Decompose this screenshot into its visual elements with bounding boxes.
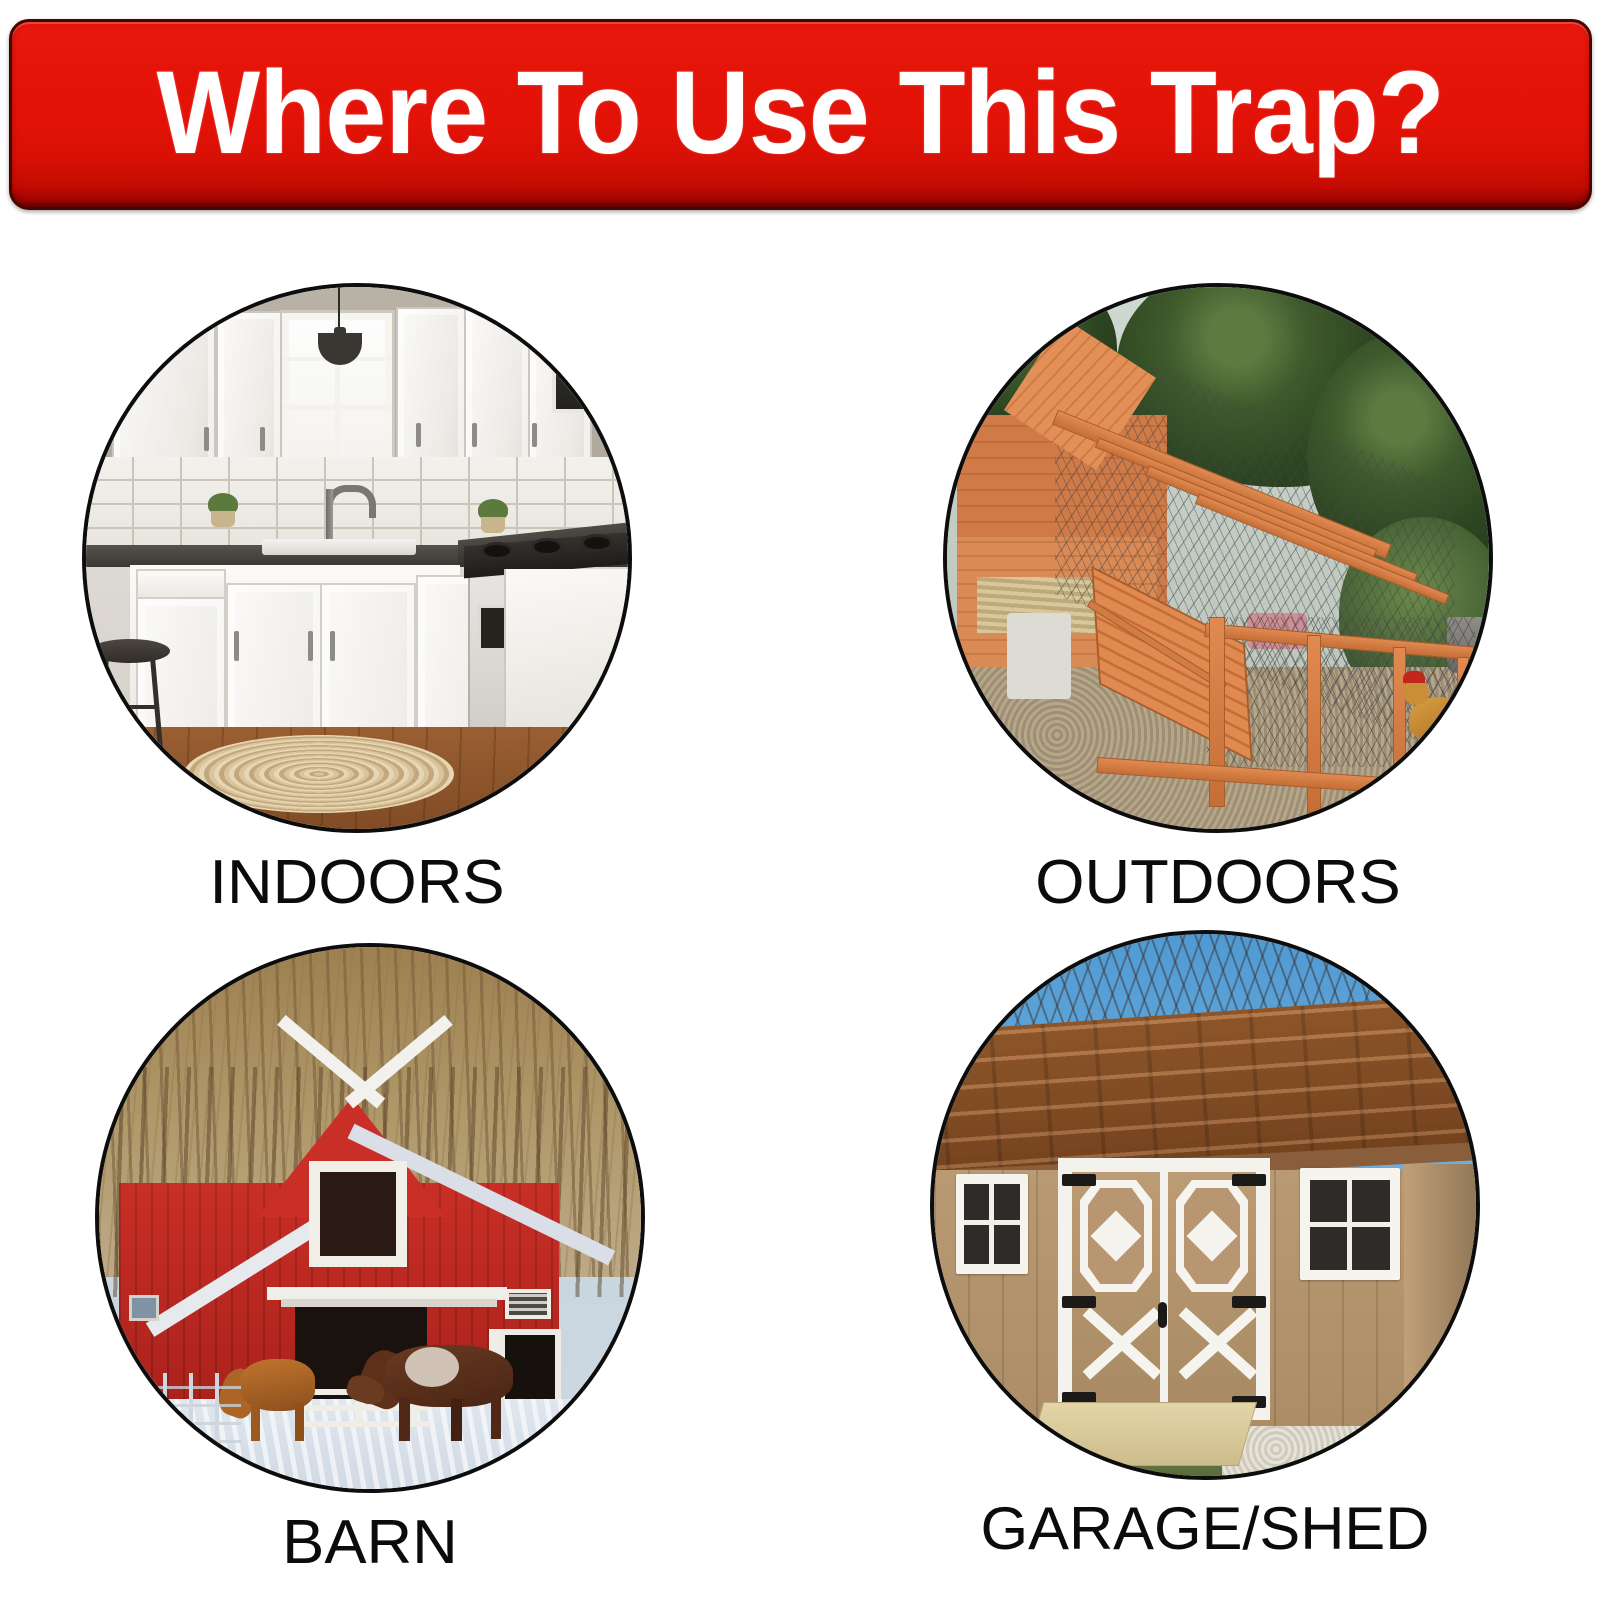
kitchen-scene xyxy=(86,287,628,829)
garage-shed-label: GARAGE/SHED xyxy=(925,1494,1486,1563)
location-card-garage-shed: GARAGE/SHED xyxy=(930,930,1480,1563)
indoors-photo xyxy=(82,283,632,833)
outdoors-photo xyxy=(943,283,1493,833)
location-card-outdoors: OUTDOORS xyxy=(943,283,1493,918)
barn-label: BARN xyxy=(90,1507,651,1578)
indoors-label: INDOORS xyxy=(77,847,638,918)
outdoors-label: OUTDOORS xyxy=(938,847,1499,918)
barn-photo xyxy=(95,943,645,1493)
location-card-indoors: INDOORS xyxy=(82,283,632,918)
barn-scene xyxy=(99,947,641,1489)
header-banner: Where To Use This Trap? xyxy=(9,19,1592,210)
location-card-barn: BARN xyxy=(95,943,645,1578)
page-title: Where To Use This Trap? xyxy=(157,54,1445,172)
garage-shed-photo xyxy=(930,930,1480,1480)
chicken-coop-scene xyxy=(947,287,1489,829)
shed-scene xyxy=(934,934,1476,1476)
location-grid: INDOORS xyxy=(0,250,1601,1590)
